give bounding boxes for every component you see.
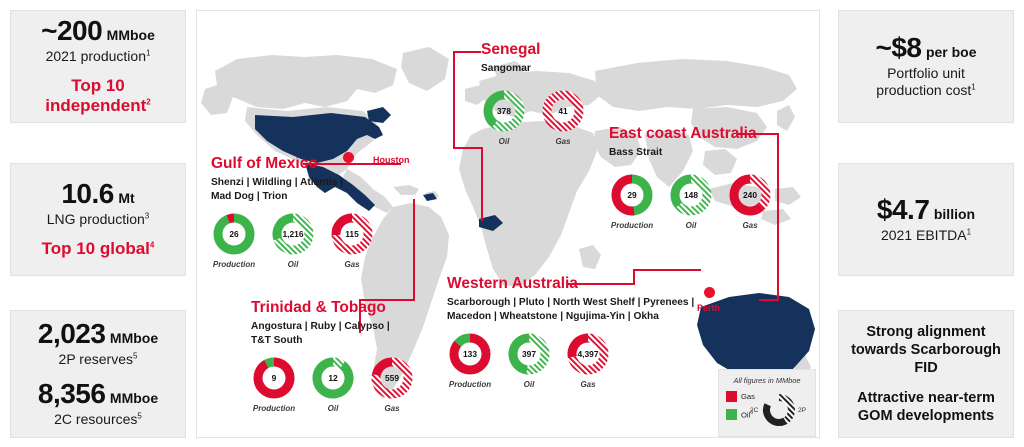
donut-label: Gas — [369, 404, 415, 413]
donut-label: Oil — [270, 260, 316, 269]
callout-senegal: Senegal Sangomar 378 Oil 41 Gas — [481, 41, 586, 146]
lng-number: 10.6 — [61, 178, 114, 209]
donut-label: Oil — [668, 221, 714, 230]
callout-title-trinidad-and-tobago: Trinidad & Tobago — [251, 299, 415, 316]
resources-unit: MMboe — [110, 390, 158, 406]
callout-assets-trinidad-and-tobago: Angostura | Ruby | Calypso | T&T South — [251, 320, 415, 348]
donut-value: 29 — [609, 172, 655, 218]
perth-pin — [704, 287, 715, 298]
footnote-ref: 2 — [146, 97, 150, 106]
resources-sublabel: 2C resources5 — [54, 411, 142, 428]
lng-highlight: Top 10 global4 — [42, 239, 155, 259]
donut-gom-gas: 115 Gas — [329, 211, 375, 269]
donut-value: 559 — [369, 355, 415, 401]
donut-eca-production: 29 Production — [609, 172, 655, 230]
world-map-panel: Houston Perth Gulf of Mexico Shenzi | Wi… — [196, 10, 820, 438]
stat-card-lng: 10.6 Mt LNG production3 Top 10 global4 — [10, 163, 186, 276]
donut-value: 378 — [481, 88, 527, 134]
country-usa-ne — [367, 107, 391, 123]
donut-row-western-australia: 133 Production 397 Oil 4,397 Gas — [447, 331, 694, 389]
donut-value: 240 — [727, 172, 773, 218]
footnote-ref: 5 — [137, 411, 141, 420]
footnote-ref: 4 — [150, 240, 154, 249]
donut-row-gulf-of-mexico: 26 Production 1,216 Oil 115 Gas — [211, 211, 375, 269]
donut-value: 4,397 — [565, 331, 611, 377]
donut-label: Gas — [329, 260, 375, 269]
donut-value: 12 — [310, 355, 356, 401]
stat-card-unit-cost: ~$8 per boe Portfolio unit production co… — [838, 10, 1014, 123]
reserves-sublabel: 2P reserves5 — [59, 351, 138, 368]
donut-gom-production: 26 Production — [211, 211, 257, 269]
legend-tag-2p: 2P — [798, 407, 806, 414]
lng-sublabel: LNG production3 — [47, 211, 150, 228]
production-number: ~200 — [41, 15, 102, 46]
donut-label: Gas — [565, 380, 611, 389]
callout-title-gulf-of-mexico: Gulf of Mexico — [211, 155, 375, 172]
donut-label: Production — [211, 260, 257, 269]
donut-label: Production — [609, 221, 655, 230]
donut-value: 9 — [251, 355, 297, 401]
legend-key-gas: Gas — [726, 391, 755, 402]
production-highlight: Top 10 independent2 — [17, 76, 179, 116]
callout-gulf-of-mexico: Gulf of Mexico Shenzi | Wildling | Atlan… — [211, 155, 375, 269]
legend-donut: 2C 2P — [761, 392, 797, 433]
map-legend: All figures in MMboe Gas Oil6 2C 2P — [718, 369, 816, 437]
callout-title-senegal: Senegal — [481, 41, 586, 58]
leader-line-senegal-h1 — [453, 51, 481, 53]
legend-title: All figures in MMboe — [726, 376, 808, 385]
donut-label: Oil — [310, 404, 356, 413]
donut-tt-gas: 559 Gas — [369, 355, 415, 413]
callout-title-east-coast-australia: East coast Australia — [609, 125, 773, 142]
donut-tt-oil: 12 Oil — [310, 355, 356, 413]
donut-wa-gas: 4,397 Gas — [565, 331, 611, 389]
donut-row-east-coast-australia: 29 Production 148 Oil 240 Gas — [609, 172, 773, 230]
callout-assets-senegal: Sangomar — [481, 62, 586, 76]
gas-swatch-icon — [726, 391, 737, 402]
leader-line-eca-h2 — [759, 299, 779, 301]
callout-east-coast-australia: East coast Australia Bass Strait 29 Prod… — [609, 125, 773, 230]
ebitda-number: $4.7 — [877, 194, 930, 225]
stat-card-ebitda: $4.7 billion 2021 EBITDA1 — [838, 163, 1014, 276]
reserves-unit: MMboe — [110, 330, 158, 346]
donut-value: 1,216 — [270, 211, 316, 257]
strategy-gom: Attractive near-term GOM developments — [857, 389, 995, 425]
leader-line-senegal-v — [453, 51, 455, 149]
donut-value: 41 — [540, 88, 586, 134]
legend-donut-graphic — [761, 392, 797, 428]
donut-label: Production — [447, 380, 493, 389]
callout-trinidad-and-tobago: Trinidad & Tobago Angostura | Ruby | Cal… — [251, 299, 415, 413]
donut-row-trinidad-and-tobago: 9 Production 12 Oil 559 Gas — [251, 355, 415, 413]
donut-label: Oil — [481, 137, 527, 146]
unit-cost-number: ~$8 — [875, 32, 921, 63]
footnote-ref: 1 — [146, 49, 150, 58]
unit-cost-headline: ~$8 per boe — [875, 34, 976, 62]
donut-label: Production — [251, 404, 297, 413]
perth-label: Perth — [697, 303, 720, 313]
donut-senegal-oil: 378 Oil — [481, 88, 527, 146]
donut-value: 115 — [329, 211, 375, 257]
donut-wa-oil: 397 Oil — [506, 331, 552, 389]
footnote-ref: 1 — [967, 227, 971, 236]
lng-unit: Mt — [118, 190, 134, 206]
reserves-number: 2,023 — [38, 318, 106, 349]
donut-senegal-gas: 41 Gas — [540, 88, 586, 146]
stat-card-reserves: 2,023 MMboe 2P reserves5 8,356 MMboe 2C … — [10, 310, 186, 438]
unit-cost-sublabel: Portfolio unit production cost1 — [876, 65, 975, 98]
donut-label: Gas — [727, 221, 773, 230]
leader-line-senegal-v2 — [481, 147, 483, 221]
callout-assets-east-coast-australia: Bass Strait — [609, 146, 773, 160]
production-sublabel: 2021 production1 — [46, 48, 151, 65]
ebitda-headline: $4.7 billion — [877, 196, 975, 224]
leader-line-wa-h2 — [633, 269, 701, 271]
infographic-root: ~200 MMboe 2021 production1 Top 10 indep… — [0, 0, 1024, 447]
footnote-ref: 1 — [971, 82, 975, 91]
leader-line-eca-v — [777, 133, 779, 301]
donut-wa-production: 133 Production — [447, 331, 493, 389]
leader-line-senegal-h2 — [453, 147, 483, 149]
reserves-headline: 2,023 MMboe — [38, 320, 158, 348]
donut-value: 397 — [506, 331, 552, 377]
footnote-ref: 3 — [145, 212, 149, 221]
ebitda-unit: billion — [934, 206, 975, 222]
oil-swatch-icon — [726, 409, 737, 420]
production-unit: MMboe — [107, 27, 155, 43]
donut-value: 26 — [211, 211, 257, 257]
ebitda-sublabel: 2021 EBITDA1 — [881, 227, 971, 244]
resources-headline: 8,356 MMboe — [38, 380, 158, 408]
donut-label: Oil — [506, 380, 552, 389]
stat-card-production: ~200 MMboe 2021 production1 Top 10 indep… — [10, 10, 186, 123]
resources-number: 8,356 — [38, 378, 106, 409]
donut-eca-gas: 240 Gas — [727, 172, 773, 230]
callout-title-western-australia: Western Australia — [447, 275, 694, 292]
donut-label: Gas — [540, 137, 586, 146]
lng-headline: 10.6 Mt — [61, 180, 134, 208]
legend-gas-label: Gas — [741, 392, 755, 401]
leader-line-trinidad-v2 — [413, 199, 415, 301]
production-headline: ~200 MMboe — [41, 17, 155, 45]
callout-western-australia: Western Australia Scarborough | Pluto | … — [447, 275, 694, 389]
donut-value: 133 — [447, 331, 493, 377]
donut-gom-oil: 1,216 Oil — [270, 211, 316, 269]
legend-tag-2c: 2C — [750, 407, 758, 414]
donut-tt-production: 9 Production — [251, 355, 297, 413]
donut-value: 148 — [668, 172, 714, 218]
stat-card-strategy: Strong alignment towards Scarborough FID… — [838, 310, 1014, 438]
footnote-ref: 5 — [133, 352, 137, 361]
unit-cost-unit: per boe — [926, 44, 977, 60]
callout-assets-gulf-of-mexico: Shenzi | Wildling | Atlantis | Mad Dog |… — [211, 176, 375, 204]
donut-eca-oil: 148 Oil — [668, 172, 714, 230]
donut-row-senegal: 378 Oil 41 Gas — [481, 88, 586, 146]
callout-assets-western-australia: Scarborough | Pluto | North West Shelf |… — [447, 296, 694, 324]
strategy-scarborough: Strong alignment towards Scarborough FID — [851, 323, 1001, 377]
